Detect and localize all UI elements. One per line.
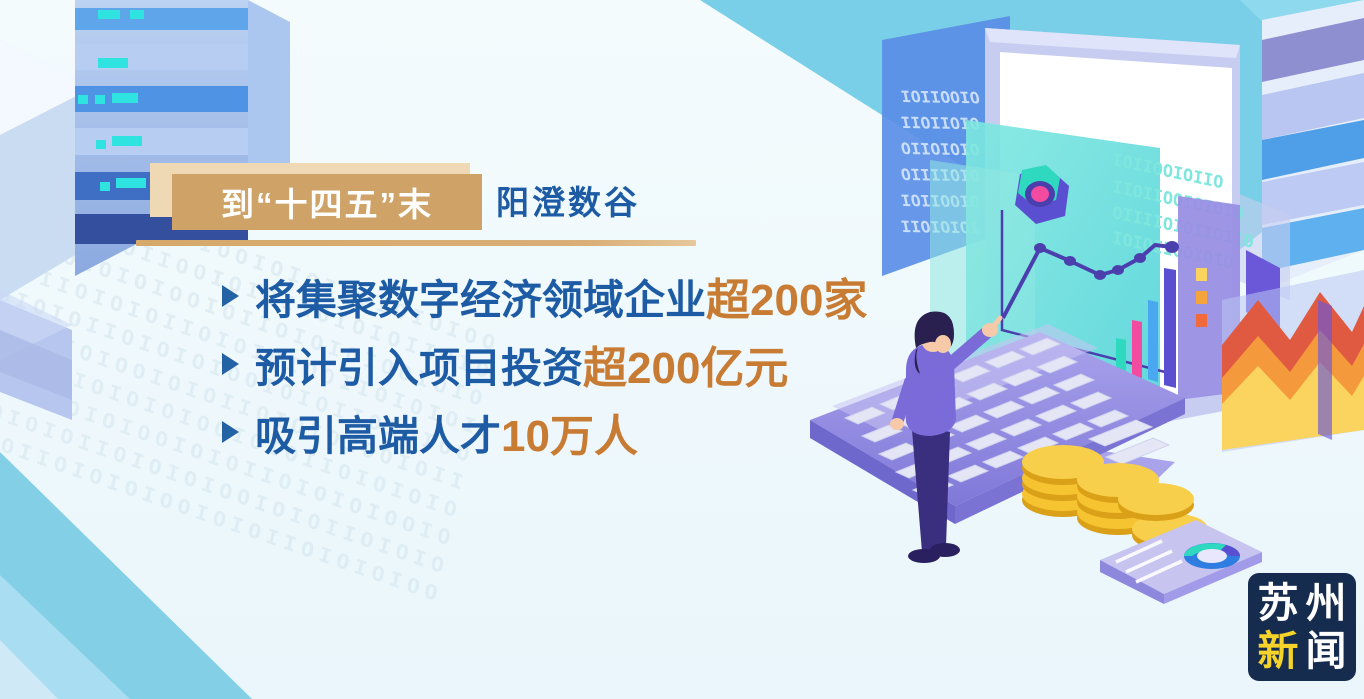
logo-char-4: 闻 xyxy=(1302,627,1350,675)
triangle-right-icon xyxy=(222,421,239,443)
area-chart xyxy=(1222,270,1364,452)
logo-char-2: 州 xyxy=(1302,579,1350,627)
tag-label: 到“十四五”末 xyxy=(172,174,482,230)
bullet-2-accent: 超200亿元 xyxy=(583,332,788,396)
suzhou-news-logo: 苏 州 新 闻 xyxy=(1248,573,1356,681)
triangle-right-icon xyxy=(222,353,239,375)
header-block: 到“十四五”末 阳澄数谷 xyxy=(136,160,756,255)
bullet-item-2: 预计引入项目投资 超200亿元 xyxy=(222,330,942,398)
logo-char-3: 新 xyxy=(1254,627,1302,675)
building-left-slab xyxy=(0,290,72,420)
building-left-group xyxy=(0,0,290,300)
bullet-1-accent: 超200家 xyxy=(706,264,867,328)
bullet-list: 将集聚数字经济领域企业 超200家 预计引入项目投资 超200亿元 吸引高端人才… xyxy=(222,262,942,466)
bullet-2-main: 预计引入项目投资 xyxy=(255,334,583,394)
bullet-3-accent: 10万人 xyxy=(501,400,638,464)
zone-name: 阳澄数谷 xyxy=(496,176,640,230)
donut-chart xyxy=(1184,543,1240,569)
header-divider xyxy=(136,240,696,246)
infographic-poster: IOIOIIOIOIOIOOIOIOIIOIOIOIOO OIIOIOIOIIO… xyxy=(0,0,1364,699)
svg-text:IOIIOOIO: IOIIOOIO xyxy=(899,87,981,107)
bullet-1-main: 将集聚数字经济领域企业 xyxy=(255,266,706,326)
logo-char-1: 苏 xyxy=(1254,579,1302,627)
bullet-item-1: 将集聚数字经济领域企业 超200家 xyxy=(222,262,942,330)
bullet-3-main: 吸引高端人才 xyxy=(255,402,501,462)
triangle-right-icon xyxy=(222,285,239,307)
bullet-item-3: 吸引高端人才 10万人 xyxy=(222,398,942,466)
